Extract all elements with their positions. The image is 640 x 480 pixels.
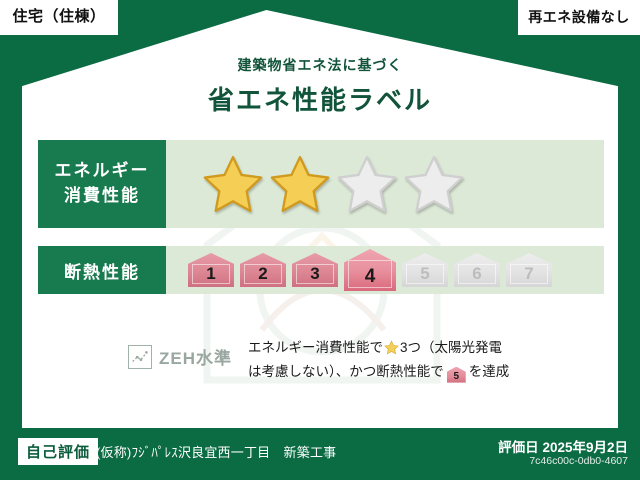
page-title: 省エネ性能ラベル (0, 80, 640, 117)
grade-value: 6 (472, 264, 481, 284)
desc-part3: を達成 (469, 364, 510, 379)
document-id: 7c46c00c-0db0-4607 (529, 455, 628, 467)
desc-star-count: 3つ（太陽光発電 (400, 340, 502, 355)
evaluation-date-value: 2025年9月2日 (542, 440, 628, 455)
grade-value: 7 (524, 264, 533, 284)
energy-performance-label: 住宅（住棟） 再エネ設備なし 建築物省エネ法に基づく 省エネ性能ラベル エネルギ… (0, 0, 640, 480)
insulation-grade-scale: 1234567 (166, 246, 604, 294)
zeh-label: ZEH水準 (159, 344, 232, 369)
zeh-badge: ZEH水準 (128, 344, 248, 369)
grade-value: 2 (258, 264, 267, 284)
star-filled-icon (269, 153, 331, 215)
insulation-grade-6: 6 (454, 253, 500, 287)
insulation-grade-1: 1 (188, 253, 234, 287)
star-filled-icon (202, 153, 264, 215)
desc-part1: エネルギー消費性能で (248, 340, 383, 355)
grade-value: 4 (365, 266, 376, 288)
insulation-grade-3: 3 (292, 253, 338, 287)
title-subtitle: 建築物省エネ法に基づく (0, 55, 640, 75)
footer: 自己評価 (仮称)ﾌｼﾞﾊﾟﾚｽ沢良宜西一丁目 新築工事 評価日 2025年9月… (0, 428, 640, 480)
row-energy-label-line1: エネルギー (55, 159, 150, 184)
tag-building-type: 住宅（住棟） (0, 0, 118, 35)
grade-value: 3 (310, 264, 319, 284)
title-block: 建築物省エネ法に基づく 省エネ性能ラベル (0, 55, 640, 117)
row-insulation-performance: 断熱性能 1234567 (38, 246, 604, 294)
project-name: (仮称)ﾌｼﾞﾊﾟﾚｽ沢良宜西一丁目 新築工事 (96, 442, 336, 461)
row-energy-label: エネルギー 消費性能 (38, 140, 166, 228)
row-insulation-label: 断熱性能 (38, 246, 166, 294)
insulation-grade-4: 4 (344, 249, 396, 291)
insulation-grade-5: 5 (402, 253, 448, 287)
zeh-chart-icon (128, 345, 152, 369)
grade-value: 5 (420, 264, 429, 284)
star-empty-icon (336, 153, 398, 215)
insulation-grade-2: 2 (240, 253, 286, 287)
grade-value: 1 (206, 264, 215, 284)
evaluation-date: 評価日 2025年9月2日 (498, 436, 628, 456)
star-rating (166, 140, 604, 228)
zeh-description: エネルギー消費性能で3つ（太陽光発電 は考慮しない）、かつ断熱性能で5を達成 (248, 336, 509, 383)
insulation-grade-7: 7 (506, 253, 552, 287)
inline-grade-badge: 5 (447, 367, 466, 383)
row-energy-performance: エネルギー 消費性能 (38, 140, 604, 228)
row-energy-label-line2: 消費性能 (64, 184, 140, 209)
desc-part2: は考慮しない）、かつ断熱性能で (248, 364, 444, 379)
zeh-section: ZEH水準 エネルギー消費性能で3つ（太陽光発電 は考慮しない）、かつ断熱性能で… (128, 336, 598, 383)
tag-renewable-energy: 再エネ設備なし (518, 0, 640, 35)
self-evaluation-badge: 自己評価 (18, 438, 98, 465)
evaluation-date-label: 評価日 (498, 440, 539, 455)
inline-star-icon (384, 340, 399, 355)
star-empty-icon (403, 153, 465, 215)
